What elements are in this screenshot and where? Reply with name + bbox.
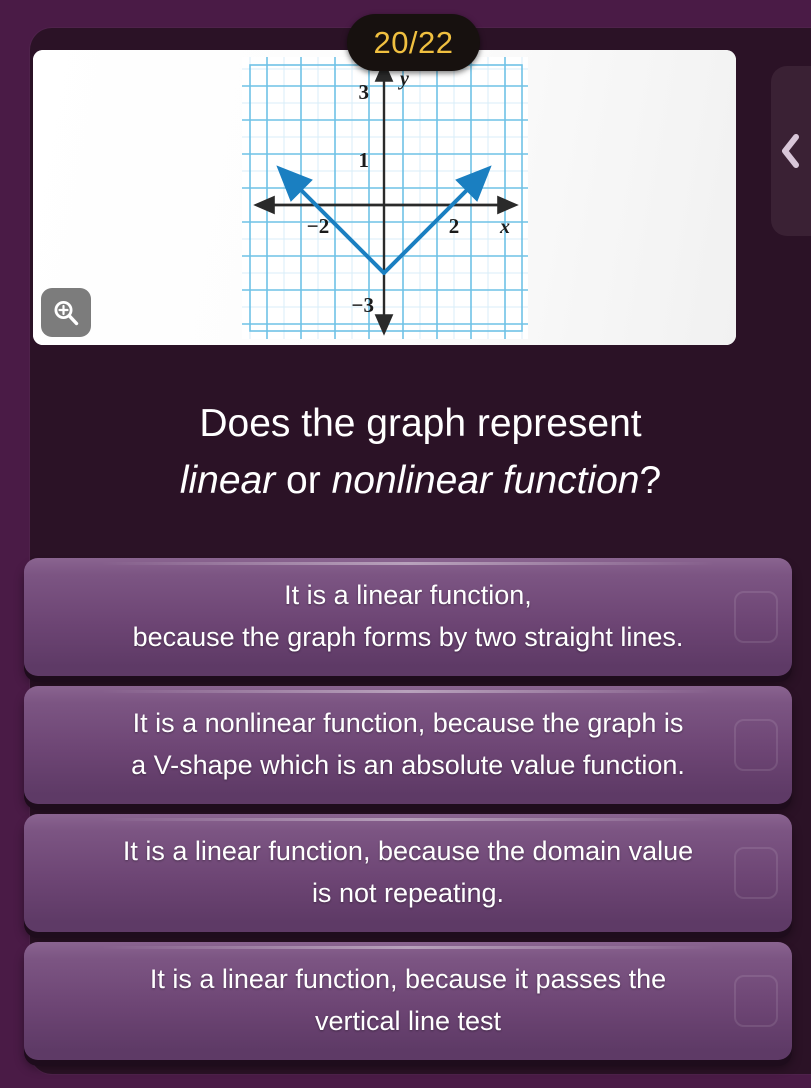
chevron-left-icon — [781, 134, 801, 168]
x-tick-2: 2 — [448, 214, 459, 238]
progress-label: 20/22 — [373, 25, 453, 61]
question-conjunction: or — [275, 459, 331, 502]
answer-option-d-text: It is a linear function, because it pass… — [46, 958, 770, 1042]
answer-option-b[interactable]: It is a nonlinear function, because the … — [24, 686, 792, 804]
answer-option-d-line2: vertical line test — [315, 1006, 501, 1036]
answer-option-b-line2: a V-shape which is an absolute value fun… — [131, 750, 685, 780]
answer-option-d[interactable]: It is a linear function, because it pass… — [24, 942, 792, 1060]
answer-option-c-text: It is a linear function, because the dom… — [46, 830, 770, 914]
coordinate-graph: 3 1 −3 −2 2 y x — [242, 57, 528, 339]
x-axis-label: x — [499, 216, 510, 238]
question-block: Does the graph represent linear or nonli… — [30, 395, 811, 509]
progress-badge: 20/22 — [347, 14, 480, 71]
question-line-2: linear or nonlinear function? — [48, 452, 793, 509]
answer-option-a-text: It is a linear function, because the gra… — [46, 574, 770, 658]
x-tick-neg2: −2 — [306, 214, 328, 238]
answer-option-b-line1: It is a nonlinear function, because the … — [133, 708, 684, 738]
answer-option-c-line1: It is a linear function, because the dom… — [123, 836, 693, 866]
figure-image: 3 1 −3 −2 2 y x — [33, 50, 736, 345]
answer-option-a-line2: because the graph forms by two straight … — [133, 622, 684, 652]
side-panel-toggle-button[interactable] — [771, 66, 811, 236]
question-emphasis-linear: linear — [180, 459, 275, 502]
answer-option-c-line2: is not repeating. — [312, 878, 504, 908]
y-tick-neg3: −3 — [351, 293, 373, 317]
answer-option-d-line1: It is a linear function, because it pass… — [150, 964, 666, 994]
zoom-in-button[interactable] — [41, 288, 91, 337]
question-mark: ? — [639, 459, 661, 502]
y-tick-3: 3 — [358, 80, 369, 104]
magnifier-plus-icon — [51, 298, 81, 328]
question-emphasis-nonlinear: nonlinear function — [332, 459, 640, 502]
figure-panel[interactable]: 3 1 −3 −2 2 y x — [33, 50, 736, 345]
question-line-1: Does the graph represent — [48, 395, 793, 452]
answer-option-a[interactable]: It is a linear function, because the gra… — [24, 558, 792, 676]
answer-options-list: It is a linear function, because the gra… — [24, 558, 792, 1070]
y-tick-1: 1 — [358, 148, 369, 172]
answer-option-a-line1: It is a linear function, — [284, 580, 532, 610]
answer-option-b-text: It is a nonlinear function, because the … — [46, 702, 770, 786]
answer-option-c[interactable]: It is a linear function, because the dom… — [24, 814, 792, 932]
